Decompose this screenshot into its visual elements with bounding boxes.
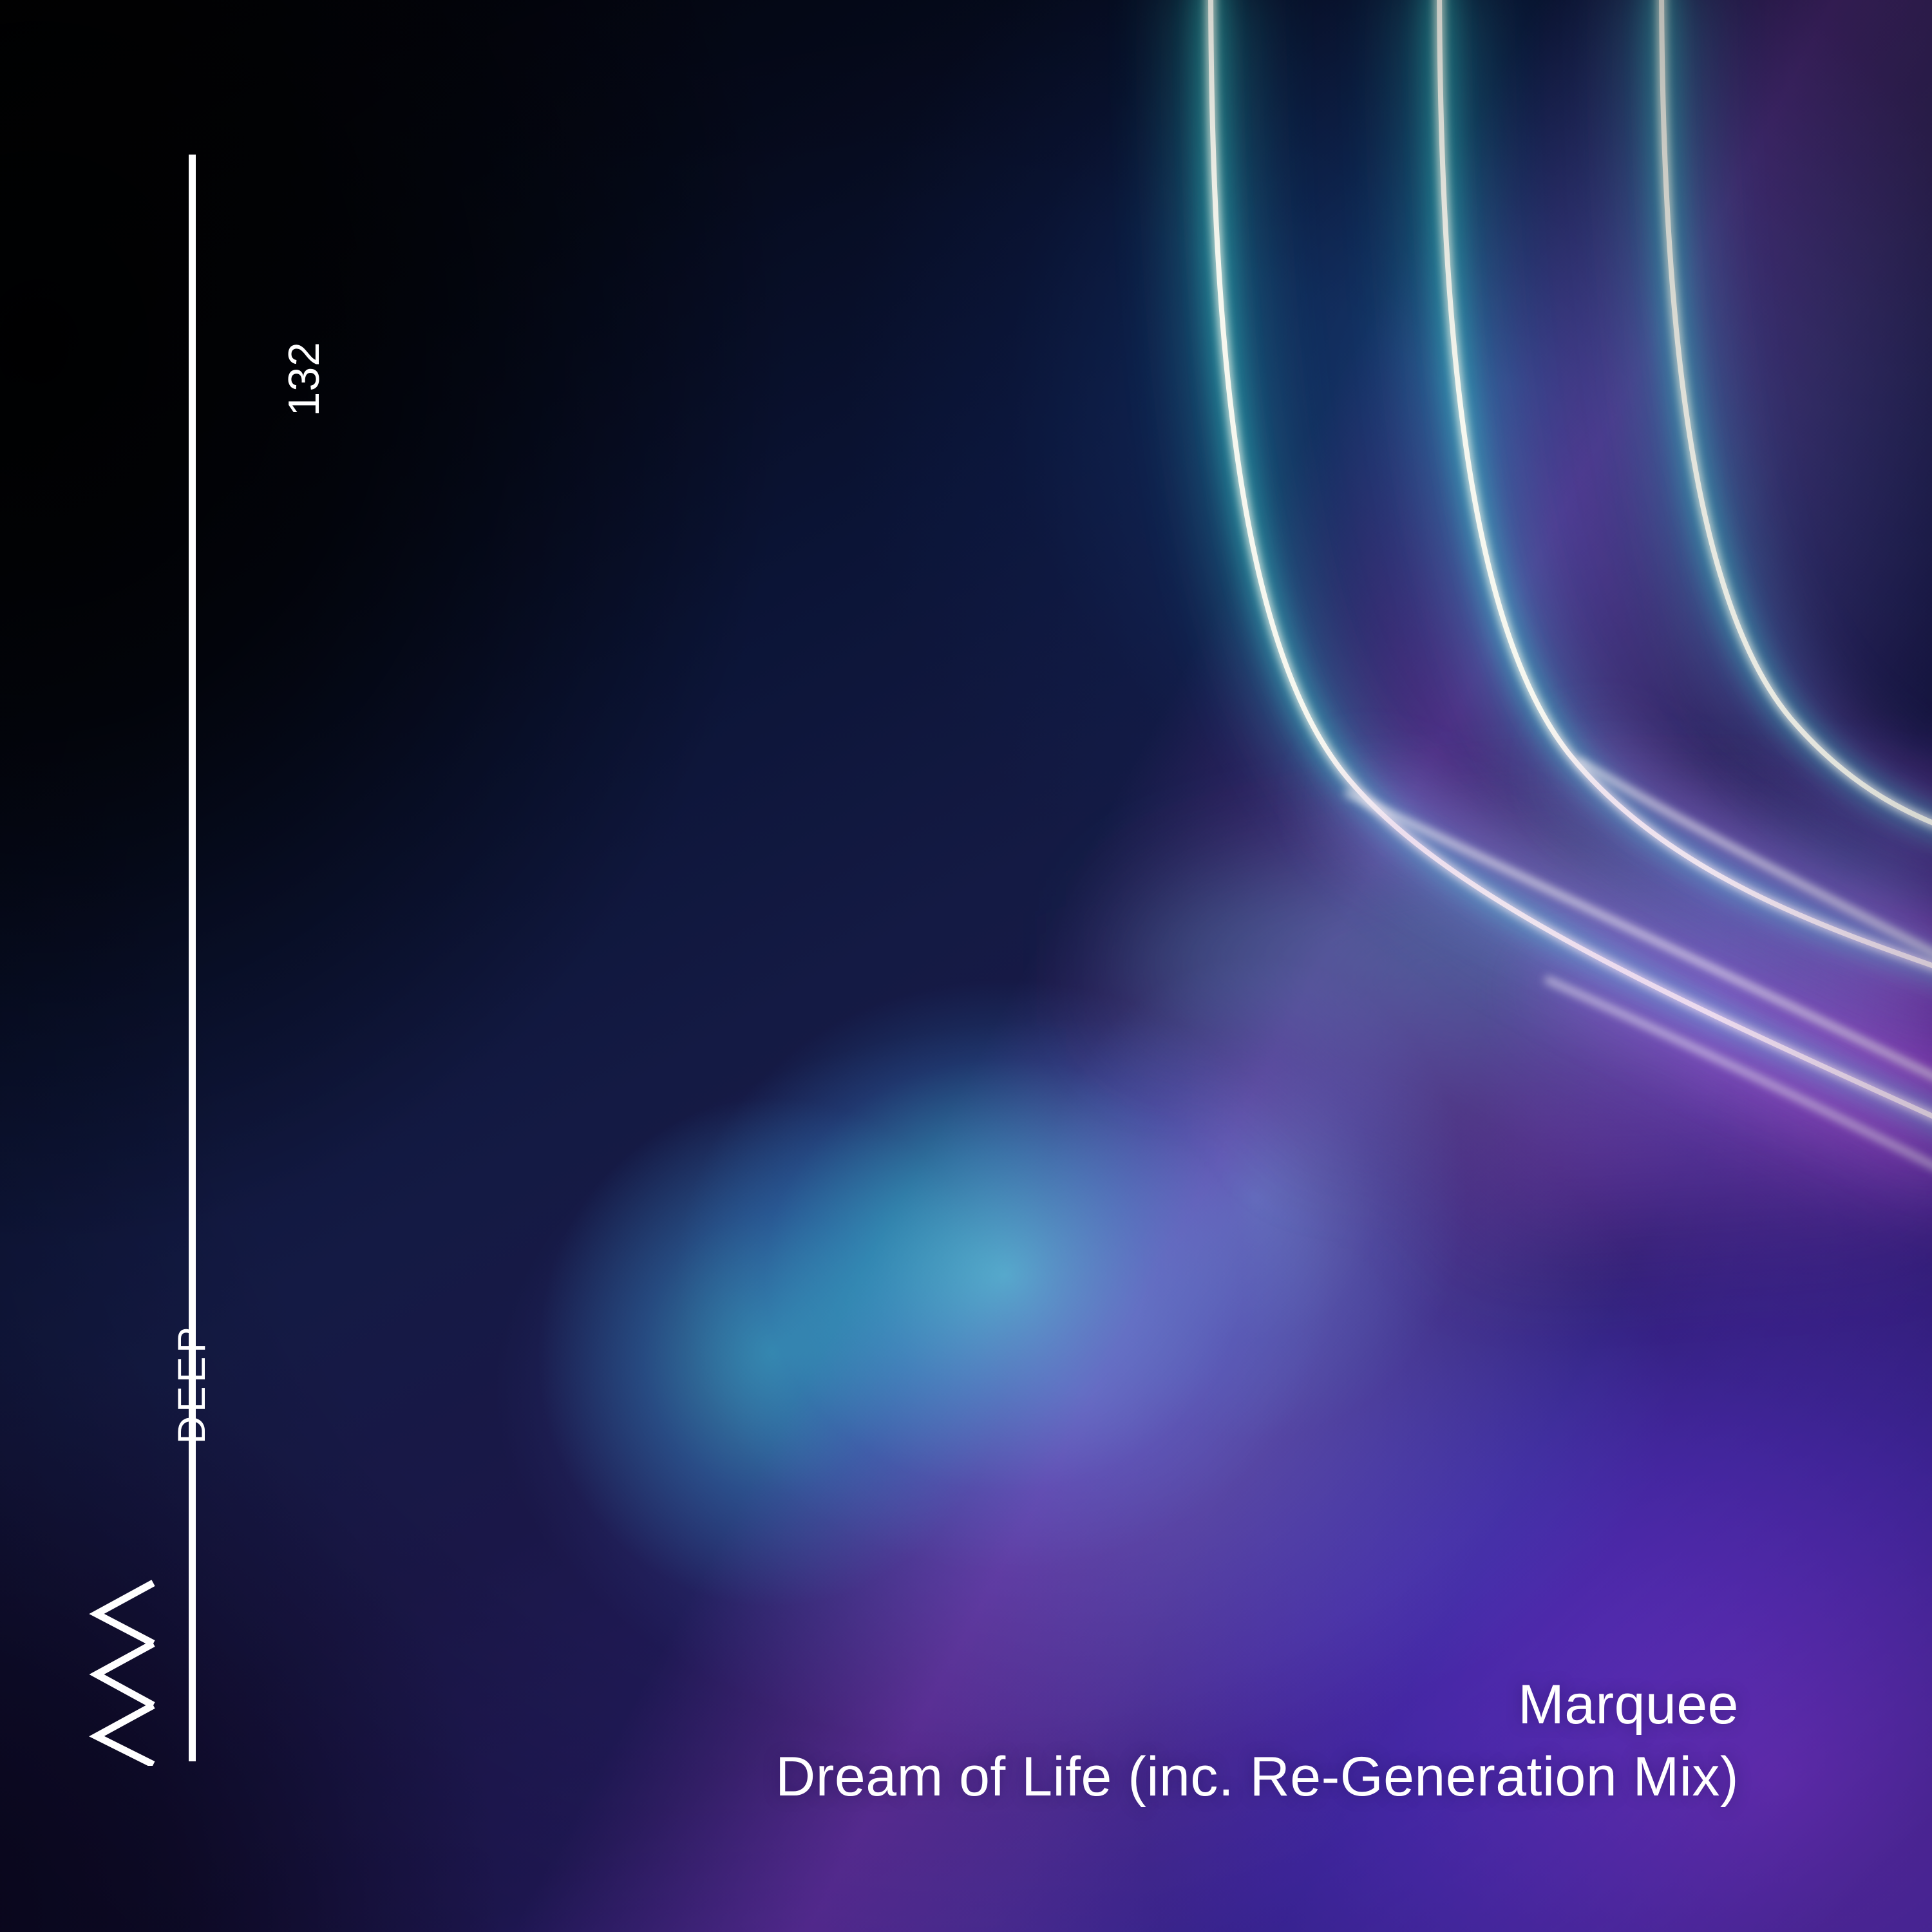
background-wall-glow [0,0,1932,1932]
background-vignette [0,0,1932,1932]
imprint-lockup: DEEP [76,1444,173,1766]
imprint-name: DEEP [173,1323,211,1444]
background-violet-glow [0,0,1932,1932]
vertical-divider-rule [189,155,196,1761]
neon-tube-3 [1662,0,1932,837]
neon-tube-2 [1439,0,1932,979]
neon-tube-1-reflection [1346,792,1932,1095]
neon-diagonal-lower [1546,979,1932,1185]
catalog-number: 132 [282,341,326,496]
background-left-shadow [0,0,1932,1932]
background-bottom-left-shadow [0,0,1932,1932]
background-cyan-reflection [0,0,1932,1932]
artist-name: Marquee [775,1672,1739,1738]
background-blue-reflection [0,0,1932,1932]
album-cover: 132 DEEP Marquee Dream of Life (inc. Re-… [0,0,1932,1932]
neon-tube-artwork [0,0,1932,1932]
neon-tube-1 [1211,0,1932,1133]
release-title: Dream of Life (inc. Re-Generation Mix) [775,1745,1739,1810]
ava-logo-icon [77,1579,162,1766]
neon-tube-2-reflection [1578,760,1932,972]
background-magenta-streak [0,0,1932,1932]
release-credits: Marquee Dream of Life (inc. Re-Generatio… [775,1672,1739,1810]
background-base-gradient [0,0,1932,1932]
floor-reflection-ribbons [1133,831,1932,1243]
